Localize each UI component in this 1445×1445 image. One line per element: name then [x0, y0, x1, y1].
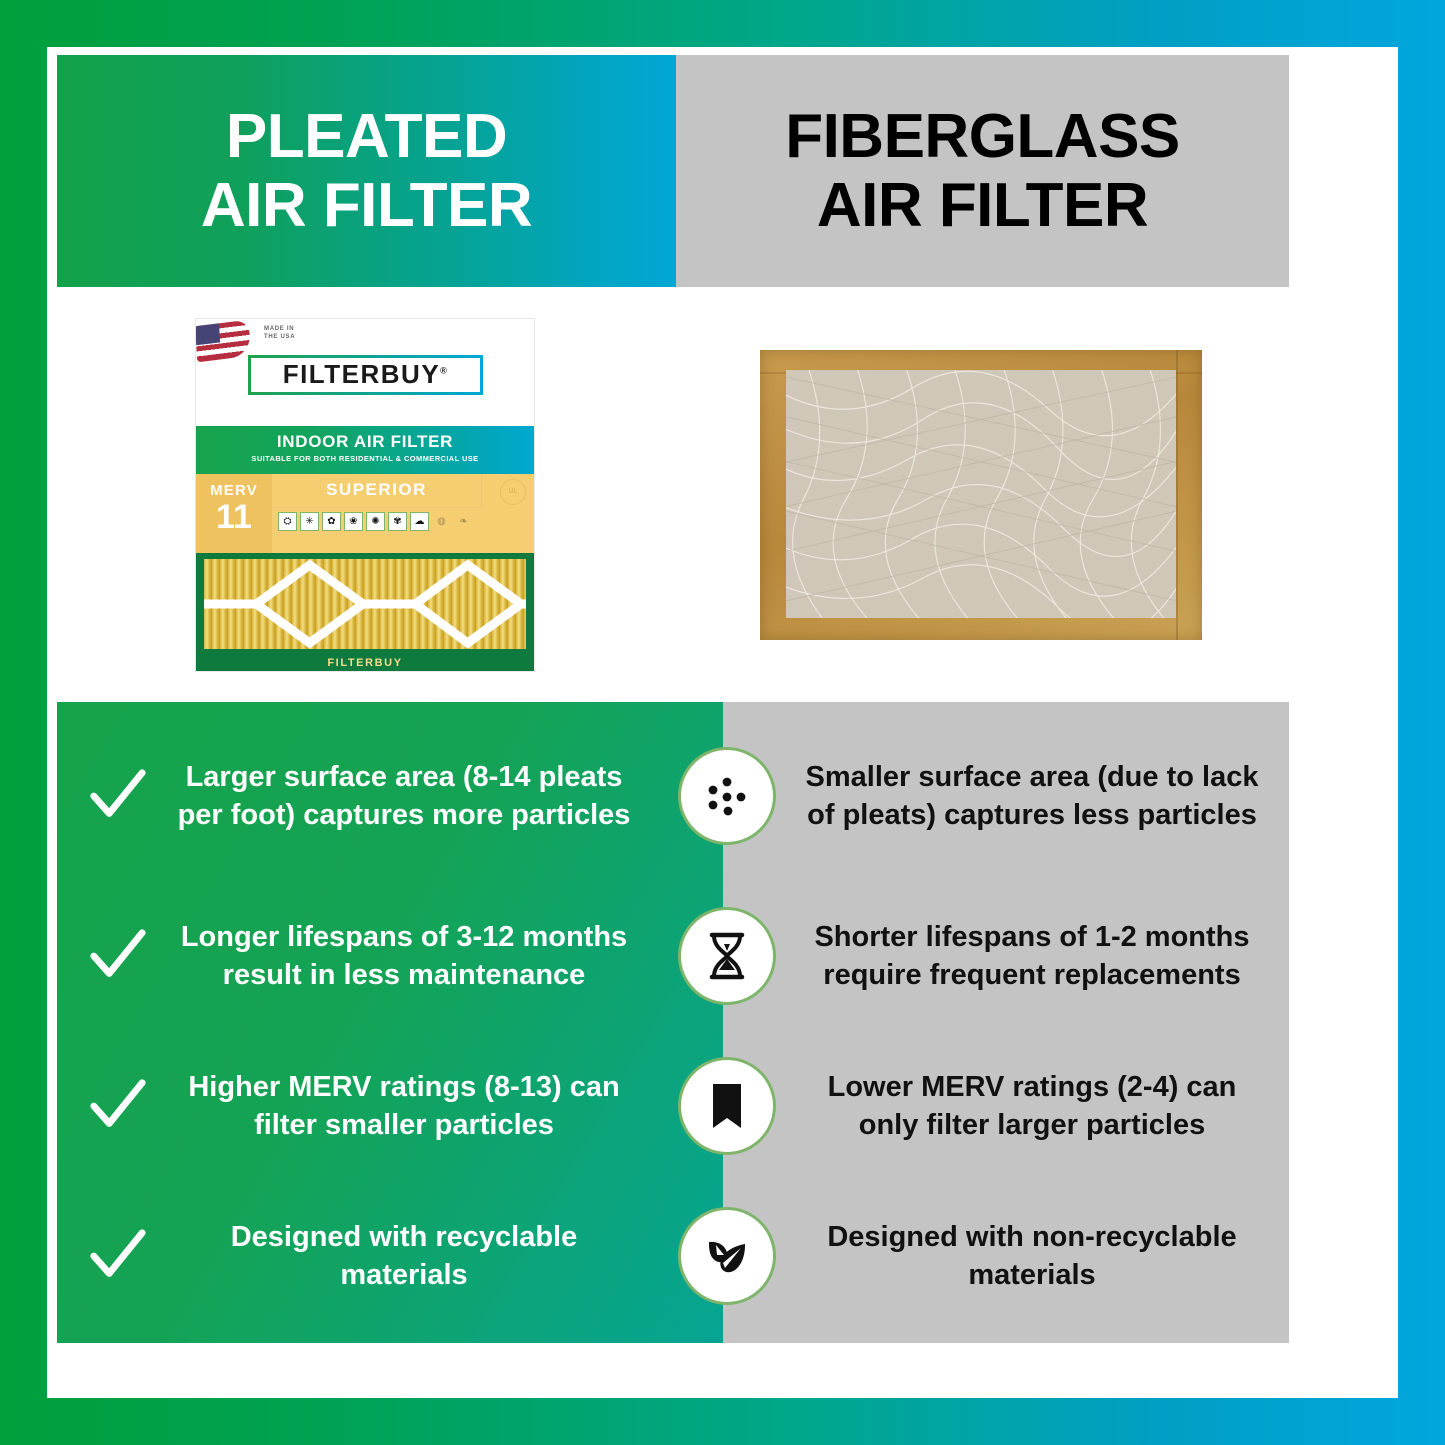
filterbuy-logo-box: FILTERBUY® — [248, 355, 483, 395]
brand-trademark: ® — [440, 365, 448, 375]
pet-dander-icon: ✾ — [388, 512, 407, 531]
filterbuy-logo-text: FILTERBUY® — [283, 359, 449, 390]
fiberglass-filter-image — [760, 350, 1202, 640]
header-pleated-title: PLEATED AIR FILTER — [201, 102, 532, 241]
leaf-icon — [678, 1207, 776, 1305]
package-gradient-band: INDOOR AIR FILTER SUITABLE FOR BOTH RESI… — [196, 426, 534, 474]
checkmark-icon — [57, 1075, 177, 1137]
support-mesh-icon — [204, 559, 526, 649]
dust-icon: ⛭ — [278, 512, 297, 531]
fiberglass-media — [786, 370, 1176, 618]
odor-icon: ◍ — [432, 512, 451, 531]
pleated-filter-package-image: MADE IN THE USA FILTERBUY® INDOOR AIR FI… — [196, 319, 534, 671]
smog-icon: ❧ — [454, 512, 473, 531]
row-right-text: Shorter lifespans of 1-2 months require … — [797, 918, 1289, 995]
merv-value: 11 — [196, 501, 272, 533]
row-right-text: Lower MERV ratings (2-4) can only filter… — [797, 1068, 1289, 1145]
made-in-line2: THE USA — [264, 333, 295, 341]
header-pleated-line1: PLEATED — [226, 102, 507, 171]
comparison-row: Higher MERV ratings (8-13) can filter sm… — [57, 1026, 1289, 1186]
row-left-text: Higher MERV ratings (8-13) can filter sm… — [177, 1068, 657, 1145]
made-in-usa-text: MADE IN THE USA — [264, 325, 295, 341]
fiberglass-product-cell — [673, 287, 1289, 702]
bacteria-icon: ✳ — [300, 512, 319, 531]
pleated-media-area: FILTERBUY — [196, 553, 534, 671]
checkmark-icon — [57, 765, 177, 827]
filtration-icon-strip: ⛭ ✳ ✿ ❀ ✺ ✾ ☁ ◍ ❧ — [278, 512, 473, 531]
row-icon-holder — [657, 907, 797, 1005]
comparison-section: Larger surface area (8-14 pleats per foo… — [57, 702, 1289, 1343]
pleated-product-cell: MADE IN THE USA FILTERBUY® INDOOR AIR FI… — [57, 287, 673, 702]
row-left-text: Larger surface area (8-14 pleats per foo… — [177, 758, 657, 835]
comparison-row: Larger surface area (8-14 pleats per foo… — [57, 716, 1289, 876]
hourglass-icon — [678, 907, 776, 1005]
brand-name: FILTERBUY — [283, 359, 440, 389]
header-fiberglass: FIBERGLASS AIR FILTER — [676, 55, 1289, 287]
gradient-frame: PLEATED AIR FILTER FIBERGLASS AIR FILTER… — [0, 0, 1445, 1445]
headers-row: PLEATED AIR FILTER FIBERGLASS AIR FILTER — [57, 55, 1289, 287]
band-subtitle: SUITABLE FOR BOTH RESIDENTIAL & COMMERCI… — [196, 454, 534, 463]
header-fiberglass-title: FIBERGLASS AIR FILTER — [785, 102, 1180, 241]
merv-label: MERV — [196, 474, 272, 499]
row-icon-holder — [657, 1207, 797, 1305]
made-in-line1: MADE IN — [264, 325, 295, 333]
header-pleated-line2: AIR FILTER — [201, 171, 532, 240]
row-icon-holder — [657, 747, 797, 845]
checkmark-icon — [57, 1225, 177, 1287]
comparison-row: Designed with recyclable materials Desig… — [57, 1176, 1289, 1336]
tier-label: SUPERIOR — [272, 474, 482, 508]
product-images-row: MADE IN THE USA FILTERBUY® INDOOR AIR FI… — [57, 287, 1289, 702]
smoke-icon: ☁ — [410, 512, 429, 531]
row-left-text: Longer lifespans of 3-12 months result i… — [177, 918, 657, 995]
comparison-rows: Larger surface area (8-14 pleats per foo… — [57, 702, 1289, 1343]
row-right-text: Designed with non-recyclable materials — [797, 1218, 1289, 1295]
package-top-white-area: MADE IN THE USA FILTERBUY® — [196, 319, 534, 426]
package-gold-area: MERV 11 SUPERIOR UL ⛭ ✳ ✿ ❀ ✺ ✾ ☁ ◍ ❧ — [196, 474, 534, 553]
band-title: INDOOR AIR FILTER — [196, 426, 534, 452]
checkmark-icon — [57, 925, 177, 987]
row-left-text: Designed with recyclable materials — [177, 1218, 657, 1295]
comparison-row: Longer lifespans of 3-12 months result i… — [57, 876, 1289, 1036]
usa-flag-icon — [196, 319, 251, 362]
header-pleated: PLEATED AIR FILTER — [57, 55, 676, 287]
header-fiberglass-line1: FIBERGLASS — [785, 102, 1180, 171]
virus-icon: ✿ — [322, 512, 341, 531]
bookmark-icon — [678, 1057, 776, 1155]
pollen-icon: ✺ — [366, 512, 385, 531]
row-right-text: Smaller surface area (due to lack of ple… — [797, 758, 1289, 835]
particles-icon — [678, 747, 776, 845]
frame-seam-vertical — [1176, 350, 1178, 640]
merv-badge: MERV 11 — [196, 474, 272, 553]
package-footer-brand: FILTERBUY — [196, 657, 534, 669]
header-fiberglass-line2: AIR FILTER — [785, 171, 1180, 240]
row-icon-holder — [657, 1057, 797, 1155]
ul-seal-icon: UL — [500, 479, 526, 505]
mold-icon: ❀ — [344, 512, 363, 531]
